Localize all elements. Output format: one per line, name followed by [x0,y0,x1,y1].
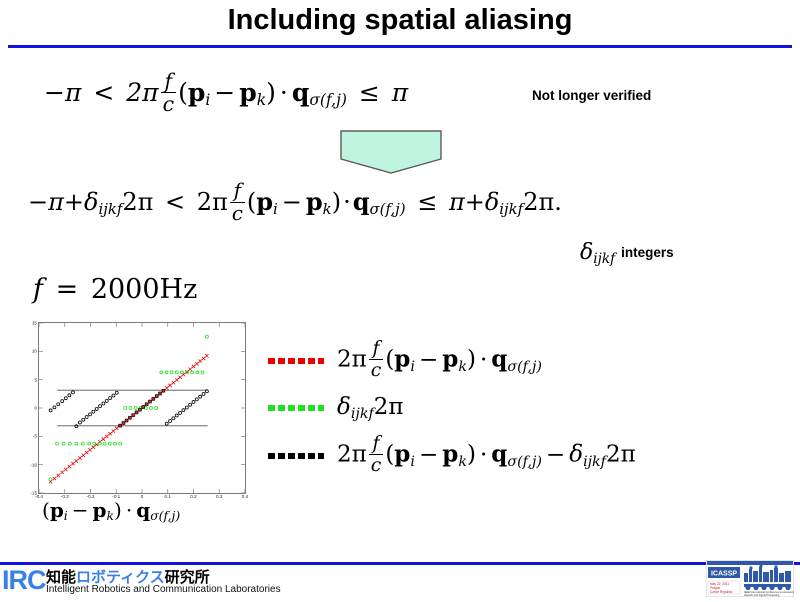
lg1-dot: · [480,347,487,373]
icassp-logo-icon: ICASSP May 22, 2011 Prague Czech Republi… [706,560,794,597]
eq2-vector-pk: p [306,187,323,216]
svg-text:Czech Republic: Czech Republic [710,590,733,594]
xlabel-paren-open: ( [42,498,50,522]
xlabel-vector-q: q [136,498,150,522]
footer-divider [0,562,800,565]
eq2-vector-q: q [353,187,370,216]
frequency-equals: = [56,274,79,305]
plot-ytick-label: -10 [30,462,37,467]
lg1-minus: − [419,347,438,373]
eq2-dot-product: · [343,188,351,216]
eq1-fraction: fc [161,71,176,116]
eq1-vector-pk-sub: k [257,91,266,109]
legend-swatch-green [268,404,324,412]
eq2-lhs-plus: + [64,188,84,216]
lg3-vector-q-sub: σ(f,j) [507,454,542,470]
eq2-frac-denominator: c [230,204,245,224]
legend-label-integer-multiple: δijkf2π [337,394,404,422]
lg1-vector-q: q [491,346,507,373]
plot-ytick-label: -5 [33,434,37,439]
eq2-lhs-twopi: 2π [122,188,153,216]
lg3-vector-pk: p [442,441,458,468]
lg3-fraction: fc [369,434,384,475]
xlabel-vector-pk: p [93,498,107,522]
lg3-delta: δ [569,442,583,468]
title-divider [8,45,792,48]
icassp-text: ICASSP [711,571,737,578]
equation-aliased-constraint: −π+δijkf2π < 2πfc(pi−pk)·qσ(f,j) ≤ π+δij… [28,182,562,225]
equation-main-constraint: −π < 2πfc(pi−pk)·qσ(f,j) ≤ π [44,72,408,117]
eq1-minus: − [214,78,235,107]
lg3-vector-pk-sub: k [458,454,467,470]
plot-legend: 2πfc(pi−pk)·qσ(f,j) δijkf2π 2πfc(pi−pk)·… [268,340,796,490]
eq2-rel-right: ≤ [417,188,437,216]
legend-entry-wrapped: 2πfc(pi−pk)·qσ(f,j)−δijkf2π [268,435,796,476]
xlabel-vector-q-sub: σ(f,j) [150,508,180,523]
eq2-rhs-delta: δ [485,188,499,216]
eq1-vector-pi-sub: i [205,91,210,109]
plot-xaxis-label: (pi−pk)·qσ(f,j) [42,498,180,523]
eq2-minus: − [282,188,302,216]
frequency-value: 2000 [91,274,160,305]
irc-logo: IRC 知能ロボティクス研究所 Intelligent Robotics and… [2,566,332,599]
plot-xtick-label: 0.4 [242,494,248,499]
plot-ytick-label: 0 [34,406,37,411]
lg3-vector-q: q [491,441,507,468]
svg-text:Speech and Signal Processing: Speech and Signal Processing [744,593,780,597]
eq2-vector-pi: p [256,187,273,216]
lg3-delta-sub: ijkf [583,454,606,470]
eq2-rhs-twopi: 2π [523,188,554,216]
plot-ytick-label: 15 [32,321,37,326]
lg3-twopi: 2π [606,442,636,468]
eq2-rhs-plus: + [465,188,485,216]
eq1-coef: 2π [126,78,158,107]
plot-xtick-label: 0.3 [216,494,222,499]
lg1-frac-den: c [369,361,384,380]
lg3-coef: 2π [337,442,367,468]
xlabel-paren-close: ) [114,498,122,522]
xlabel-vector-pk-sub: k [107,508,115,523]
eq2-lhs-delta: δ [84,188,98,216]
eq2-coef: 2π [197,188,228,216]
legend-label-wrapped: 2πfc(pi−pk)·qσ(f,j)−δijkf2π [337,435,636,476]
xlabel-minus: − [72,498,89,522]
eq2-rhs-pi: π [449,188,465,216]
eq2-paren-open: ( [247,188,256,216]
frequency-unit: Hz [160,274,198,305]
eq2-rhs-delta-sub: ijkf [499,200,523,218]
annotation-delta-integers: δijkfintegers [580,240,674,267]
annotation-not-longer-verified: Not longer verified [532,88,651,103]
integers-delta-symbol: δ [580,240,593,265]
lg2-delta: δ [337,394,351,420]
plot-ytick-label: 5 [34,377,37,382]
irc-english-name: Intelligent Robotics and Communication L… [46,584,281,595]
down-arrow-shape [340,130,442,175]
integers-delta-subscript: ijkf [593,251,615,267]
eq1-frac-numerator: f [161,71,176,92]
eq1-vector-pk: p [239,78,256,107]
lg3-vector-pi: p [394,441,410,468]
eq2-vector-q-sub: σ(f,j) [369,200,405,218]
lg1-vector-pk-sub: k [458,359,467,375]
integers-label: integers [621,245,674,260]
lg2-twopi: 2π [374,394,404,420]
lg1-fraction: fc [369,339,384,380]
legend-entry-integer-multiple: δijkf2π [268,394,796,422]
eq2-vector-pi-sub: i [273,200,278,218]
eq1-lhs: −π [44,78,81,107]
frequency-label: f = 2000Hz [33,274,197,305]
xlabel-vector-pi: p [50,498,64,522]
lg3-dot: · [480,442,487,468]
eq1-vector-pi: p [188,78,205,107]
eq1-vector-q-sub: σ(f,j) [309,91,347,109]
eq1-paren-open: ( [178,78,188,107]
eq1-frac-denominator: c [161,94,176,115]
legend-swatch-red [268,357,324,365]
xlabel-vector-pi-sub: i [64,508,68,523]
irc-wordmark: IRC [2,565,46,596]
lg3-minus2: − [546,442,565,468]
down-arrow-icon [340,130,442,175]
icassp-logo: ICASSP May 22, 2011 Prague Czech Republi… [706,560,794,597]
eq2-frac-numerator: f [230,181,245,201]
lg3-frac-num: f [369,434,384,453]
lg3-vector-pi-sub: i [410,454,415,470]
legend-swatch-black [268,452,324,460]
eq2-vector-pk-sub: k [323,200,332,218]
lg2-delta-sub: ijkf [351,406,374,422]
frequency-symbol: f [33,274,43,305]
plot-canvas [39,323,245,493]
eq2-paren-close: ) [332,188,341,216]
eq2-rel-left: < [165,188,185,216]
eq2-lhs-pi: −π [28,188,64,216]
lg1-vector-pi: p [394,346,410,373]
lg1-vector-pi-sub: i [410,359,415,375]
legend-entry-unwrapped: 2πfc(pi−pk)·qσ(f,j) [268,340,796,381]
eq2-fraction: fc [230,181,245,224]
eq2-period: . [554,188,562,216]
legend-label-unwrapped: 2πfc(pi−pk)·qσ(f,j) [337,340,542,381]
lg1-vector-q-sub: σ(f,j) [507,359,542,375]
lg3-paren-open: ( [385,442,394,468]
lg3-frac-den: c [369,456,384,475]
eq1-rel-right: ≤ [359,78,380,107]
eq1-vector-q: q [292,78,309,107]
lg3-minus: − [419,442,438,468]
plot-xtick-label: 0.2 [190,494,196,499]
lg1-coef: 2π [337,347,367,373]
title-bar: Including spatial aliasing [0,0,800,48]
eq1-rhs: π [392,78,408,107]
plot-axes: -15-10-5051015-0.4-0.3-0.2-0.100.10.20.3… [38,322,246,494]
phase-wrapping-plot: -15-10-5051015-0.4-0.3-0.2-0.100.10.20.3… [14,318,254,508]
lg3-paren-close: ) [467,442,476,468]
page-title: Including spatial aliasing [0,4,800,37]
eq1-rel-left: < [93,78,114,107]
lg1-vector-pk: p [442,346,458,373]
xlabel-dot: · [126,498,132,522]
plot-ytick-label: 10 [32,349,37,354]
eq1-dot-product: · [280,78,288,107]
lg1-frac-num: f [369,339,384,358]
lg1-paren-close: ) [467,347,476,373]
lg1-paren-open: ( [385,347,394,373]
eq2-lhs-delta-sub: ijkf [98,200,122,218]
eq1-paren-close: ) [266,78,276,107]
